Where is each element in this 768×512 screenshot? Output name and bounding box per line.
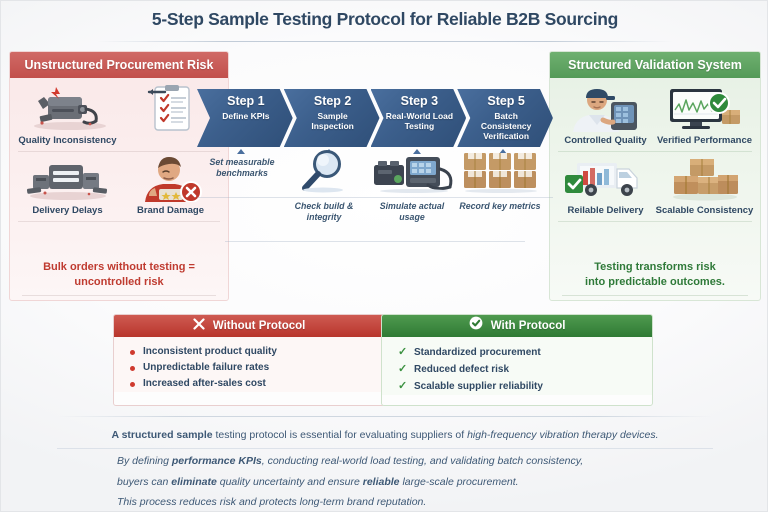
footer-line-4: This process reduces risk and protects l… xyxy=(57,492,713,512)
risk-panel: Unstructured Procurement Risk xyxy=(9,51,229,301)
step-2-title: Sample Inspection xyxy=(298,111,368,131)
step-2-caption: Check build & integrity xyxy=(283,201,365,223)
risk-label-quality: Quality Inconsistency xyxy=(16,134,119,151)
validation-divider-2 xyxy=(558,221,752,222)
validation-label-quality: Controlled Quality xyxy=(556,134,655,151)
step-1-number: Step 1 xyxy=(211,95,281,109)
without-protocol-panel: Without Protocol Inconsistent product qu… xyxy=(113,314,385,406)
step-3-caption: Simulate actual usage xyxy=(371,201,453,223)
step-1-title: Define KPIs xyxy=(211,111,281,121)
step-chevron-5[interactable]: Step 5 Batch Consistency Verification xyxy=(457,89,553,147)
check-icon: ✓ xyxy=(398,381,407,392)
footer-inner-divider xyxy=(57,448,713,449)
without-protocol-header: Without Protocol xyxy=(114,315,384,337)
step-2-number: Step 2 xyxy=(298,95,368,109)
monitor-waveform-icon xyxy=(655,84,754,132)
validation-tagline-rule xyxy=(562,295,748,296)
broken-device-icon xyxy=(16,84,119,132)
stacked-boxes-icon xyxy=(655,154,754,202)
risk-tagline: Bulk orders without testing = uncontroll… xyxy=(10,260,228,290)
validation-label-delivery: Reilable Delivery xyxy=(556,204,655,221)
check-icon: ✓ xyxy=(398,347,407,358)
step-chevron-1[interactable]: Step 1 Define KPIs xyxy=(197,89,293,147)
validation-tagline-line1: Testing transforms risk xyxy=(550,260,760,275)
step-3-title: Real-World Load Testing xyxy=(385,111,455,131)
page-title: 5-Step Sample Testing Protocol for Relia… xyxy=(1,9,768,30)
check-circle-icon xyxy=(469,316,483,338)
infographic-canvas: 5-Step Sample Testing Protocol for Relia… xyxy=(0,0,768,512)
risk-tagline-rule xyxy=(22,295,216,296)
with-protocol-header: With Protocol xyxy=(382,315,652,337)
risk-divider-2 xyxy=(18,221,220,222)
with-protocol-header-label: With Protocol xyxy=(491,320,566,332)
with-protocol-list: ✓ Standardized procurement ✓ Reduced def… xyxy=(382,337,652,395)
list-item: Unpredictable failure rates xyxy=(130,360,384,376)
step-chevron-3[interactable]: Step 3 Real-World Load Testing xyxy=(371,89,467,147)
validation-item-reliable-delivery xyxy=(556,152,655,202)
step-1-caption: Set measurable benchmarks xyxy=(201,157,283,179)
bullet-dot-icon xyxy=(130,382,135,387)
risk-item-broken-device xyxy=(16,82,119,132)
step-5-title: Batch Consistency Verification xyxy=(471,111,541,142)
validation-item-verified-performance xyxy=(655,82,754,132)
risk-label-delivery: Delivery Delays xyxy=(16,204,119,221)
x-mark-icon xyxy=(193,316,205,338)
validation-tagline: Testing transforms risk into predictable… xyxy=(550,260,760,290)
list-item: Increased after-sales cost xyxy=(130,376,384,392)
without-protocol-list: Inconsistent product quality Unpredictab… xyxy=(114,337,384,392)
validation-label-performance: Verified Performance xyxy=(655,134,754,151)
step-flow: Step 1 Define KPIs Step 2 Sample Inspect… xyxy=(197,89,553,219)
title-divider xyxy=(97,41,673,42)
step-5-caption: Record key metrics xyxy=(459,201,541,212)
list-item: ✓ Standardized procurement xyxy=(398,344,652,361)
with-protocol-panel: With Protocol ✓ Standardized procurement… xyxy=(381,314,653,406)
footer-divider xyxy=(57,416,713,417)
bullet-dot-icon xyxy=(130,350,135,355)
validation-item-controlled-quality xyxy=(556,82,655,132)
without-protocol-header-label: Without Protocol xyxy=(213,320,306,332)
footer-line-3: buyers can eliminate quality uncertainty… xyxy=(57,472,713,492)
list-item: Inconsistent product quality xyxy=(130,344,384,360)
test-equipment-icon xyxy=(369,149,459,193)
step-3-number: Step 3 xyxy=(385,95,455,109)
validation-tagline-line2: into predictable outcomes. xyxy=(550,275,760,290)
damaged-electronics-icon xyxy=(16,154,119,202)
footer-line-1: A structured sample testing protocol is … xyxy=(57,425,713,445)
risk-tagline-line2: uncontrolled risk xyxy=(10,275,228,290)
list-item: ✓ Scalable supplier reliability xyxy=(398,378,652,395)
technician-testing-icon xyxy=(556,84,655,132)
list-item: ✓ Reduced defect risk xyxy=(398,361,652,378)
risk-tagline-line1: Bulk orders without testing = xyxy=(10,260,228,275)
magnifier-icon xyxy=(289,151,359,193)
flow-divider-top xyxy=(197,197,553,198)
chevron-row: Step 1 Define KPIs Step 2 Sample Inspect… xyxy=(197,89,553,147)
risk-item-damaged-electronics xyxy=(16,152,119,202)
risk-icon-grid: Quality Inconsistency xyxy=(10,78,228,222)
step-1-tick xyxy=(237,149,245,154)
check-icon: ✓ xyxy=(398,364,407,375)
validation-panel-header: Structured Validation System xyxy=(550,52,760,78)
delivery-truck-icon xyxy=(556,154,655,202)
footer-line-2: By defining performance KPIs, conducting… xyxy=(57,451,713,471)
validation-label-consistency: Scalable Consistency xyxy=(655,204,754,221)
step-chevron-2[interactable]: Step 2 Sample Inspection xyxy=(284,89,380,147)
bullet-dot-icon xyxy=(130,366,135,371)
risk-panel-header: Unstructured Procurement Risk xyxy=(10,52,228,78)
validation-icon-grid: Controlled Quality Verified Performance xyxy=(550,78,760,222)
step-5-number: Step 5 xyxy=(471,95,541,109)
cartons-icon xyxy=(459,149,543,193)
validation-item-scalable-consistency xyxy=(655,152,754,202)
flow-divider-bottom xyxy=(225,241,525,242)
title-bar: 5-Step Sample Testing Protocol for Relia… xyxy=(1,9,768,30)
validation-panel: Structured Validation System xyxy=(549,51,761,301)
footer-text: A structured sample testing protocol is … xyxy=(57,425,713,512)
